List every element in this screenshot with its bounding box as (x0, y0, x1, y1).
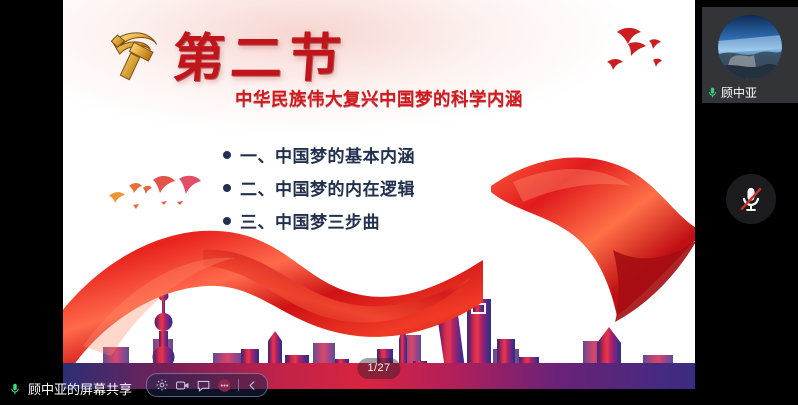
shared-screen-slide: 第二节 中华民族伟大复兴中国梦的科学内涵 (63, 0, 695, 389)
bullet-dot-icon (223, 151, 231, 159)
list-item: 二、中国梦的内在逻辑 (223, 171, 415, 204)
avatar-image (718, 15, 782, 79)
list-item: 一、中国梦的基本内涵 (223, 138, 415, 171)
birds-left-icon (109, 162, 215, 218)
list-item: 三、中国梦三步曲 (223, 204, 415, 237)
page-indicator: 1/27 (357, 358, 400, 379)
slide-bullet-list: 一、中国梦的基本内涵 二、中国梦的内在逻辑 三、中国梦三步曲 (223, 138, 415, 237)
bullet-text: 一、中国梦的基本内涵 (240, 142, 415, 167)
screen-share-label: 顾中亚的屏幕共享 (28, 383, 132, 396)
meeting-window: 第二节 中华民族伟大复兴中国梦的科学内涵 (0, 0, 798, 405)
slide-section-title: 第二节 (170, 16, 349, 91)
participant-name: 顾中亚 (721, 87, 757, 99)
video-icon[interactable] (175, 378, 190, 393)
screen-share-status: 顾中亚的屏幕共享 (8, 381, 132, 397)
microphone-muted-icon (737, 185, 765, 213)
bullet-dot-icon (223, 217, 231, 225)
avatar (718, 15, 782, 79)
chat-icon[interactable] (196, 378, 211, 393)
participant-name-row: 顾中亚 (702, 86, 798, 99)
more-icon[interactable] (217, 378, 232, 393)
cpc-emblem-icon (105, 22, 169, 86)
toolbar-divider (238, 379, 239, 391)
bullet-text: 三、中国梦三步曲 (240, 208, 380, 233)
share-toolbar[interactable] (146, 373, 268, 397)
bullet-text: 二、中国梦的内在逻辑 (240, 175, 415, 200)
doves-icon (601, 22, 673, 78)
microphone-icon (706, 86, 719, 99)
mute-indicator-button[interactable] (726, 174, 776, 224)
bullet-dot-icon (223, 184, 231, 192)
microphone-icon (8, 381, 22, 397)
annotate-icon[interactable] (154, 378, 169, 393)
participant-video-tile[interactable]: 顾中亚 (702, 7, 798, 103)
collapse-icon[interactable] (245, 378, 260, 393)
slide-subtitle: 中华民族伟大复兴中国梦的科学内涵 (63, 86, 695, 111)
